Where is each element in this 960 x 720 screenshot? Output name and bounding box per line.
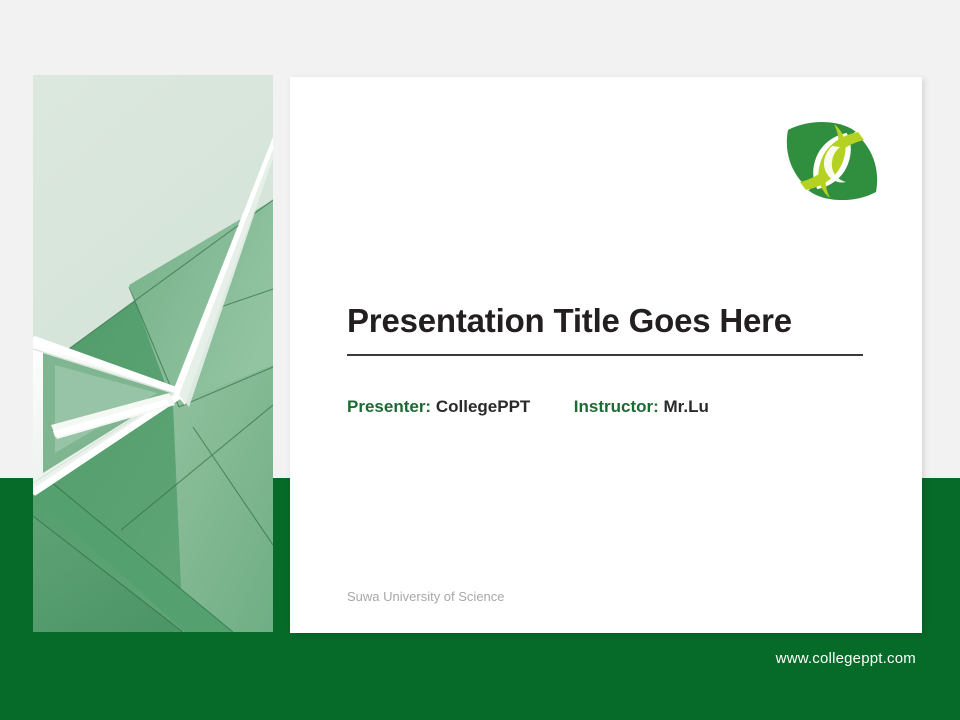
architectural-ceiling-photo (33, 75, 273, 632)
slide-canvas: www.collegeppt.com (0, 0, 960, 720)
slide-content-card: Presentation Title Goes Here Presenter: … (290, 77, 922, 633)
institution-footer: Suwa University of Science (347, 589, 505, 604)
photo-illustration (33, 75, 273, 632)
instructor-label: Instructor: (574, 397, 659, 416)
logo-mark (780, 112, 884, 210)
swirl-leaf-logo (780, 112, 884, 210)
instructor-value: Mr.Lu (664, 397, 709, 416)
credits-line: Presenter: CollegePPT Instructor: Mr.Lu (347, 397, 709, 417)
page-title: Presentation Title Goes Here (347, 302, 863, 340)
title-divider (347, 354, 863, 356)
presenter-value: CollegePPT (436, 397, 530, 416)
title-block: Presentation Title Goes Here (347, 302, 863, 356)
presenter-label: Presenter: (347, 397, 431, 416)
website-url[interactable]: www.collegeppt.com (776, 650, 916, 667)
